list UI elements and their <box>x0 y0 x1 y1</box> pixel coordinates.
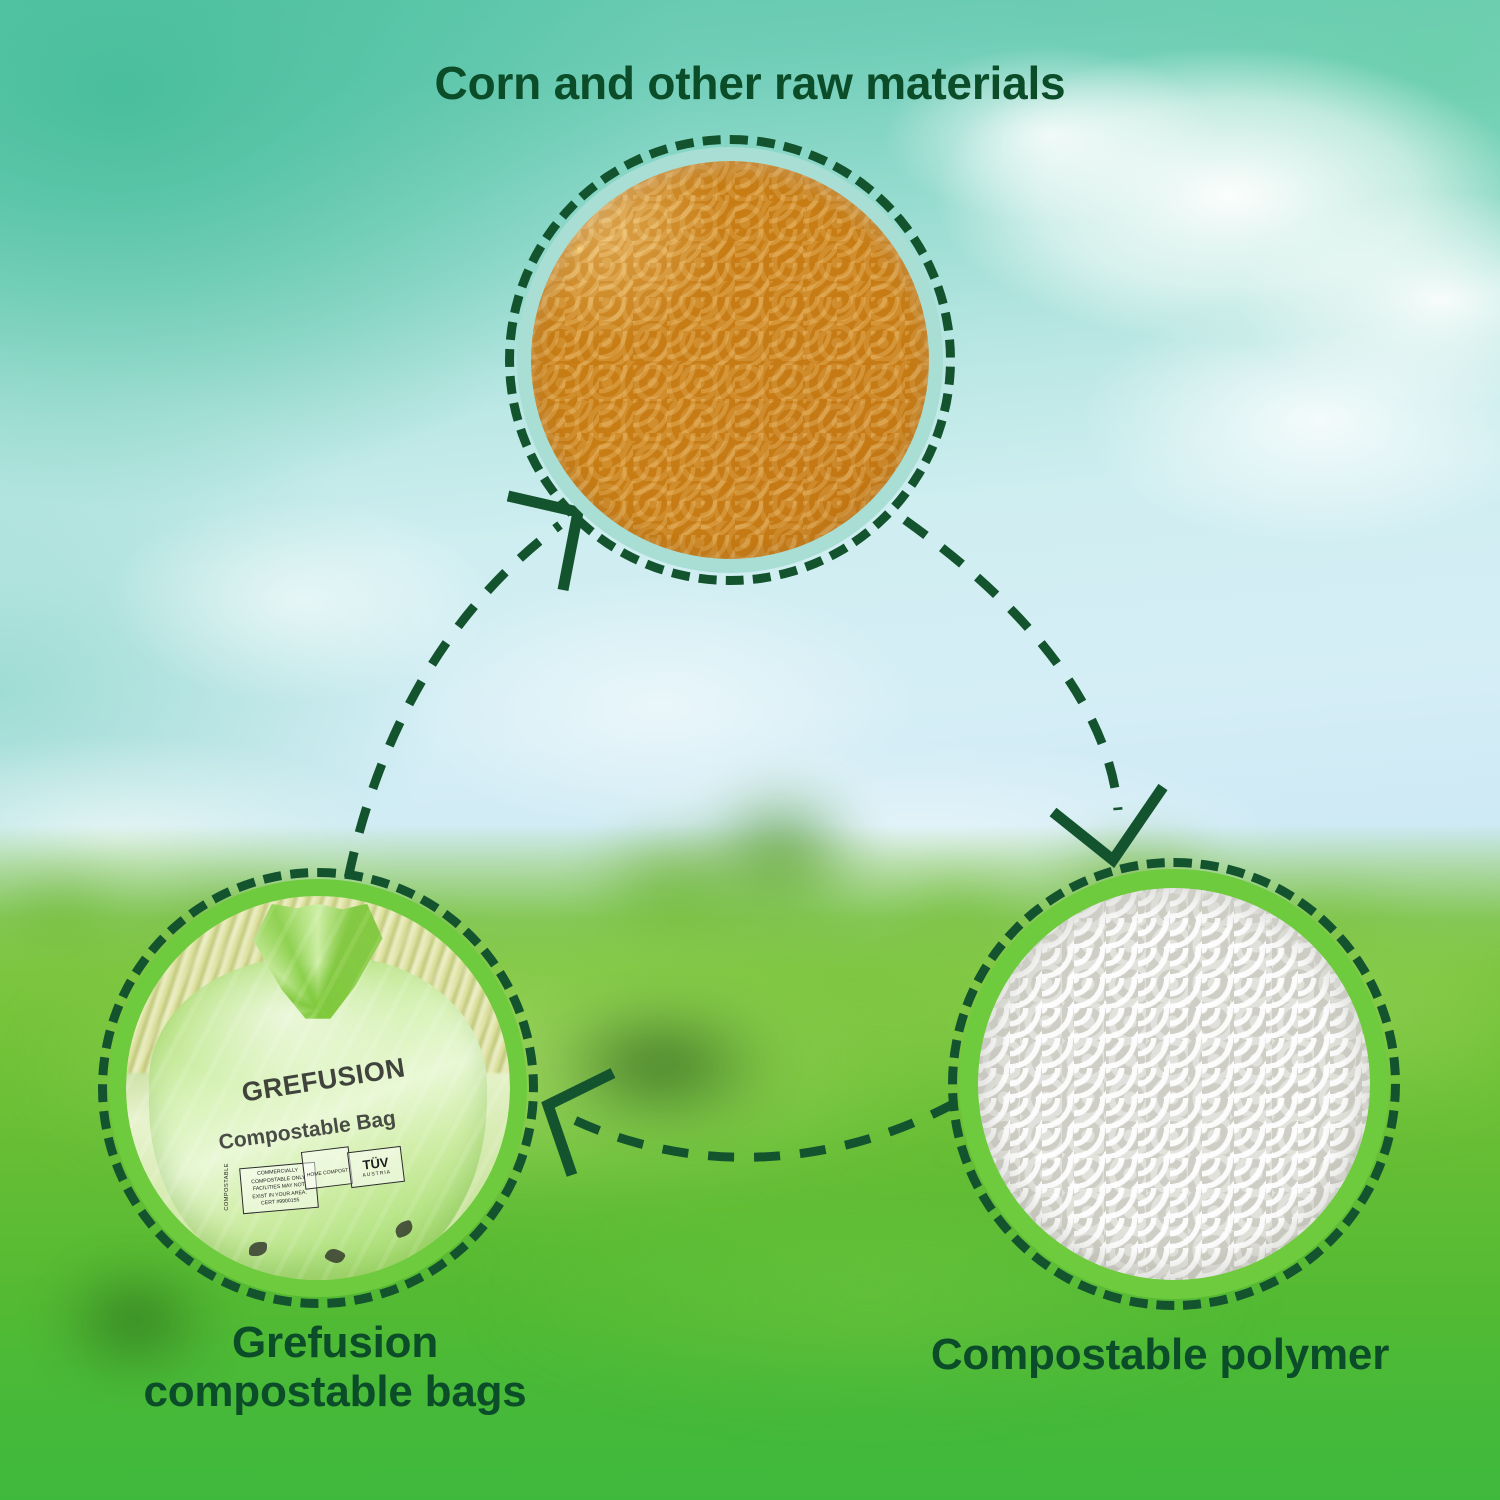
page-title: Corn and other raw materials <box>0 58 1500 110</box>
label-grefusion-compostable-bags: Grefusion compostable bags <box>40 1318 630 1417</box>
label-compostable-polymer: Compostable polymer <box>840 1330 1480 1379</box>
bag-cert-side-text: COMPOSTABLE <box>224 1163 230 1211</box>
polymer-inner-shadow <box>978 888 1370 1280</box>
node-corn <box>505 135 955 585</box>
tuv-austria-logo: TÜV AUSTRIA <box>347 1146 405 1188</box>
infographic-canvas: Corn and other raw materials <box>0 0 1500 1500</box>
home-compost-logo-text: HOME COMPOST <box>304 1168 350 1180</box>
polymer-photo <box>978 888 1370 1280</box>
arrow-polymer-to-bags <box>548 1073 955 1175</box>
home-compost-logo: HOME COMPOST <box>300 1147 352 1191</box>
bag-scene-image: GREFUSION Compostable Bag COMPOSTABLE CO… <box>126 896 510 1280</box>
node-polymer <box>948 858 1400 1310</box>
corn-photo <box>531 161 929 559</box>
corn-inner-shadow <box>531 161 929 559</box>
bags-photo: GREFUSION Compostable Bag COMPOSTABLE CO… <box>126 896 510 1280</box>
node-bags: GREFUSION Compostable Bag COMPOSTABLE CO… <box>98 868 538 1308</box>
